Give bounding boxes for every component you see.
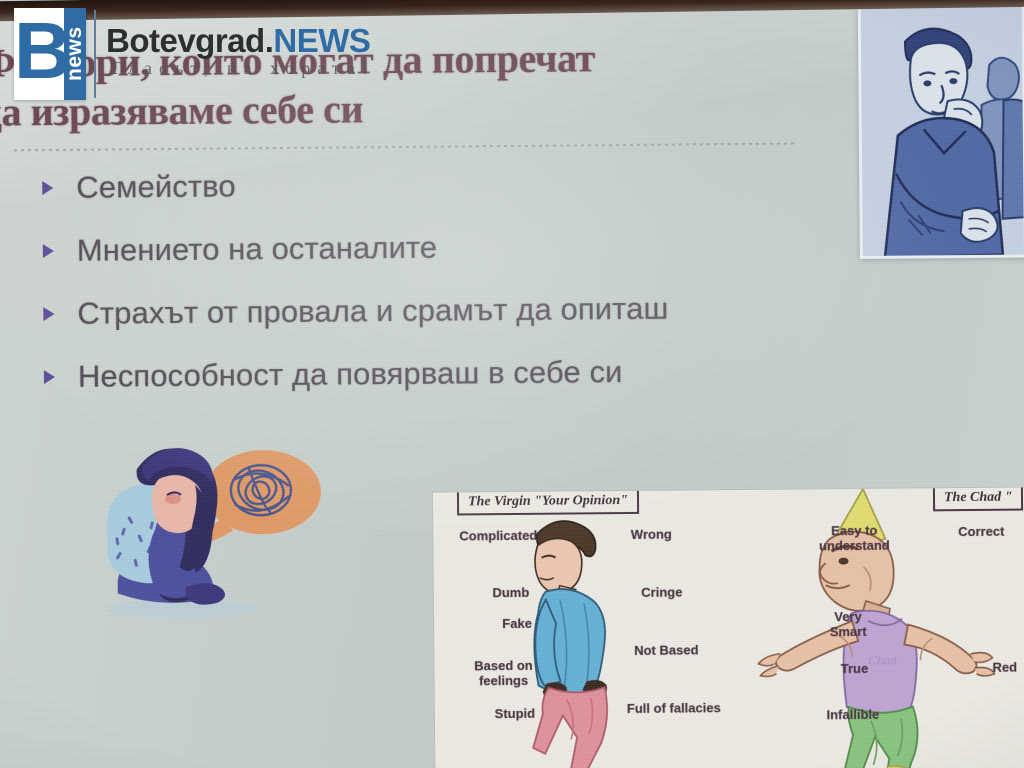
virgin-label-not-based: Not Based: [620, 642, 712, 658]
virgin-label-based-on-feelings: Based on feelings: [452, 658, 554, 689]
logo-letter-b: B: [14, 8, 64, 100]
slide-content: Фактори, които могат да попречат да изра…: [0, 0, 1024, 768]
triangle-bullet-icon: [42, 181, 53, 195]
chad-caption: The Chad ": [944, 490, 1013, 506]
virgin-label-dumb: Dumb: [476, 585, 546, 601]
site-name-suffix: NEWS: [273, 22, 370, 59]
triangle-bullet-icon: [43, 244, 54, 258]
logo-news-text: news: [64, 8, 86, 100]
virgin-caption: The Virgin "Your Opinion": [468, 493, 628, 509]
site-name-main: Botevgrad: [106, 22, 265, 59]
photo-of-projected-slide: Фактори, които могат да попречат да изра…: [0, 0, 1024, 768]
watermark-divider: [94, 10, 96, 98]
bullet-label: Мнението на останалите: [77, 230, 438, 269]
chad-label-true: True: [822, 661, 886, 677]
bullet-label: Неспособност да повярваш в себе си: [78, 354, 623, 395]
list-item: Семейство: [36, 163, 856, 206]
virgin-label-cringe: Cringe: [622, 584, 702, 600]
chad-caption-box: The Chad ": [933, 488, 1024, 512]
virgin-label-wrong: Wrong: [611, 526, 691, 542]
slide-title-line2: да изразяваме себе си: [0, 80, 812, 136]
list-item: Мнението на останалите: [37, 226, 857, 269]
list-item: Неспособност да повярваш в себе си: [38, 352, 858, 395]
virgin-label-full-of-fallacies: Full of fallacies: [611, 700, 737, 716]
virgin-caption-box: The Virgin "Your Opinion": [457, 491, 639, 516]
bullet-label: Семейство: [76, 168, 236, 205]
bullet-label: Страхът от провала и срамът да опиташ: [77, 291, 668, 332]
chad-label-infallible: Infallible: [803, 707, 903, 723]
triangle-bullet-icon: [44, 370, 55, 384]
chad-label-very-smart: Very Smart: [808, 609, 888, 640]
watermark-tagline: Гласът, на хората!: [112, 58, 375, 79]
triangle-bullet-icon: [43, 307, 54, 321]
pensive-man-illustration: [858, 2, 1024, 259]
virgin-label-stupid: Stupid: [473, 706, 557, 722]
sad-girl-illustration: [62, 429, 354, 632]
watermark-site-name: Botevgrad.NEWS: [106, 22, 370, 60]
title-divider: [14, 143, 794, 152]
chad-label-red: Red: [992, 659, 1024, 675]
bnews-logo: B news: [14, 8, 86, 100]
chad-label-easy-to-understand: Easy to understand: [801, 523, 907, 554]
bullet-list: Семейство Мнението на останалите Страхът…: [36, 163, 858, 422]
virgin-label-fake: Fake: [482, 616, 552, 632]
virgin-label-complicated: Complicated: [443, 528, 553, 544]
virgin-chad-meme: Chad The Virgin "Y: [433, 487, 1024, 768]
chad-label-correct: Correct: [941, 524, 1021, 540]
list-item: Страхът от провала и срамът да опиташ: [37, 289, 857, 332]
